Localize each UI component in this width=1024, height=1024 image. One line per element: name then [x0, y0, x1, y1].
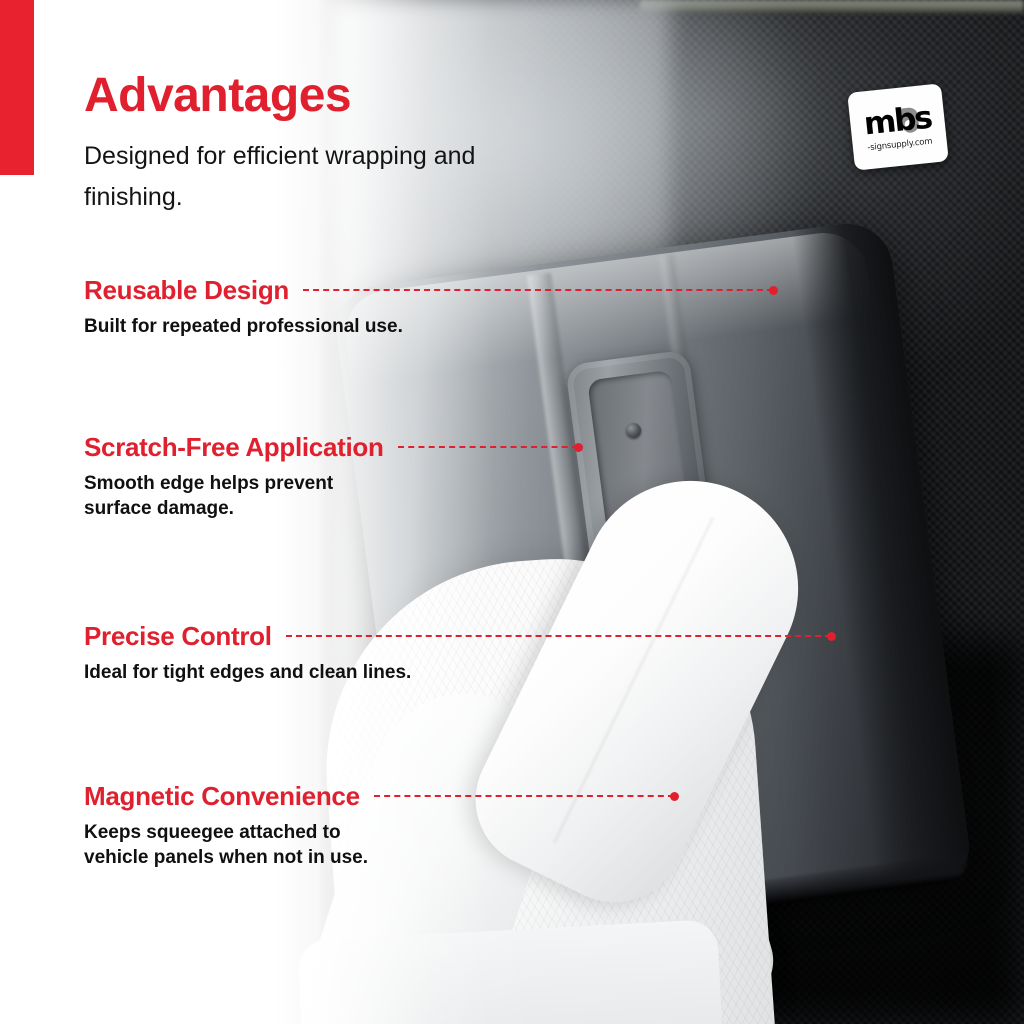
feature-dashed-connector	[303, 289, 773, 291]
feature-heading-row: Magnetic Convenience	[84, 783, 674, 809]
feature-item-reusable-design: Reusable Design Built for repeated profe…	[84, 277, 773, 339]
feature-description: Built for repeated professional use.	[84, 314, 773, 339]
feature-endpoint-dot	[670, 792, 679, 801]
feature-title: Precise Control	[84, 623, 272, 649]
feature-title: Magnetic Convenience	[84, 783, 360, 809]
feature-dashed-connector	[286, 635, 831, 637]
feature-item-precise-control: Precise Control Ideal for tight edges an…	[84, 623, 831, 685]
page-subtitle: Designed for efficient wrapping and fini…	[84, 136, 544, 218]
mbs-logo[interactable]: mbs -signsupply.com	[847, 83, 949, 170]
red-accent-bar	[0, 0, 34, 175]
feature-heading-row: Reusable Design	[84, 277, 773, 303]
feature-title: Reusable Design	[84, 277, 289, 303]
feature-endpoint-dot	[574, 443, 583, 452]
feature-description: Keeps squeegee attached to vehicle panel…	[84, 820, 674, 870]
logo-brand-text: mbs	[863, 103, 933, 141]
feature-title: Scratch-Free Application	[84, 434, 384, 460]
feature-description: Smooth edge helps prevent surface damage…	[84, 471, 578, 521]
feature-item-scratch-free-application: Scratch-Free Application Smooth edge hel…	[84, 434, 578, 521]
feature-endpoint-dot	[827, 632, 836, 641]
advantages-infographic: Advantages Designed for efficient wrappi…	[0, 0, 1024, 1024]
logo-wordmark: mbs	[859, 101, 936, 143]
feature-item-magnetic-convenience: Magnetic Convenience Keeps squeegee atta…	[84, 783, 674, 870]
feature-dashed-connector	[374, 795, 674, 797]
feature-description: Ideal for tight edges and clean lines.	[84, 660, 831, 685]
feature-dashed-connector	[398, 446, 578, 448]
feature-heading-row: Precise Control	[84, 623, 831, 649]
feature-heading-row: Scratch-Free Application	[84, 434, 578, 460]
feature-endpoint-dot	[769, 286, 778, 295]
page-title: Advantages	[84, 72, 351, 120]
